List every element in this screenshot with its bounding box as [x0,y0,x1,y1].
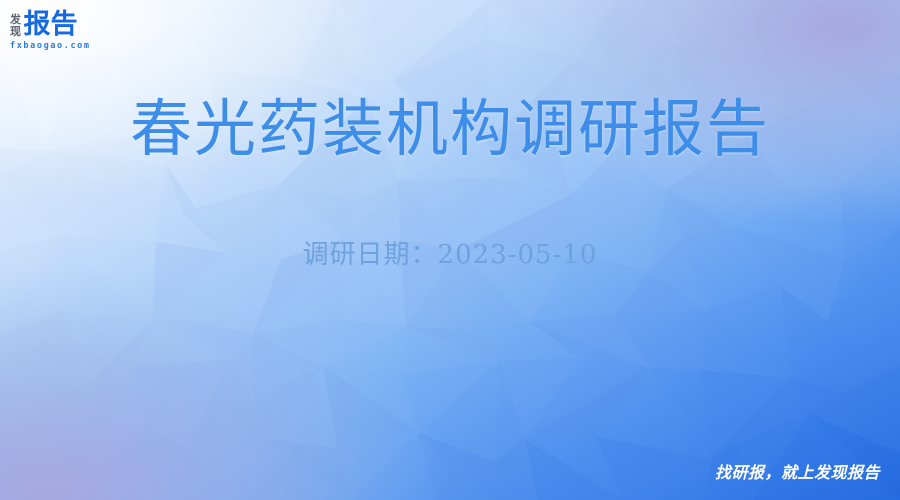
survey-date-subtitle: 调研日期：2023-05-10 [0,236,900,274]
logo-wordmark: 报告 [24,11,78,39]
page-title: 春光药装机构调研报告 [0,92,900,166]
site-logo[interactable]: 发 现 报告 fxbaogao.com [10,9,115,55]
footer-tagline: 找研报，就上发现报告 [715,459,880,483]
logo-char-xian: 现 [10,26,21,38]
logo-stacked-characters: 发 现 [10,14,21,39]
logo-wordmark-row: 发 现 报告 [10,9,115,39]
title-slide: 发 现 报告 fxbaogao.com 春光药装机构调研报告 调研日期：2023… [0,0,900,500]
logo-url: fxbaogao.com [10,42,115,51]
